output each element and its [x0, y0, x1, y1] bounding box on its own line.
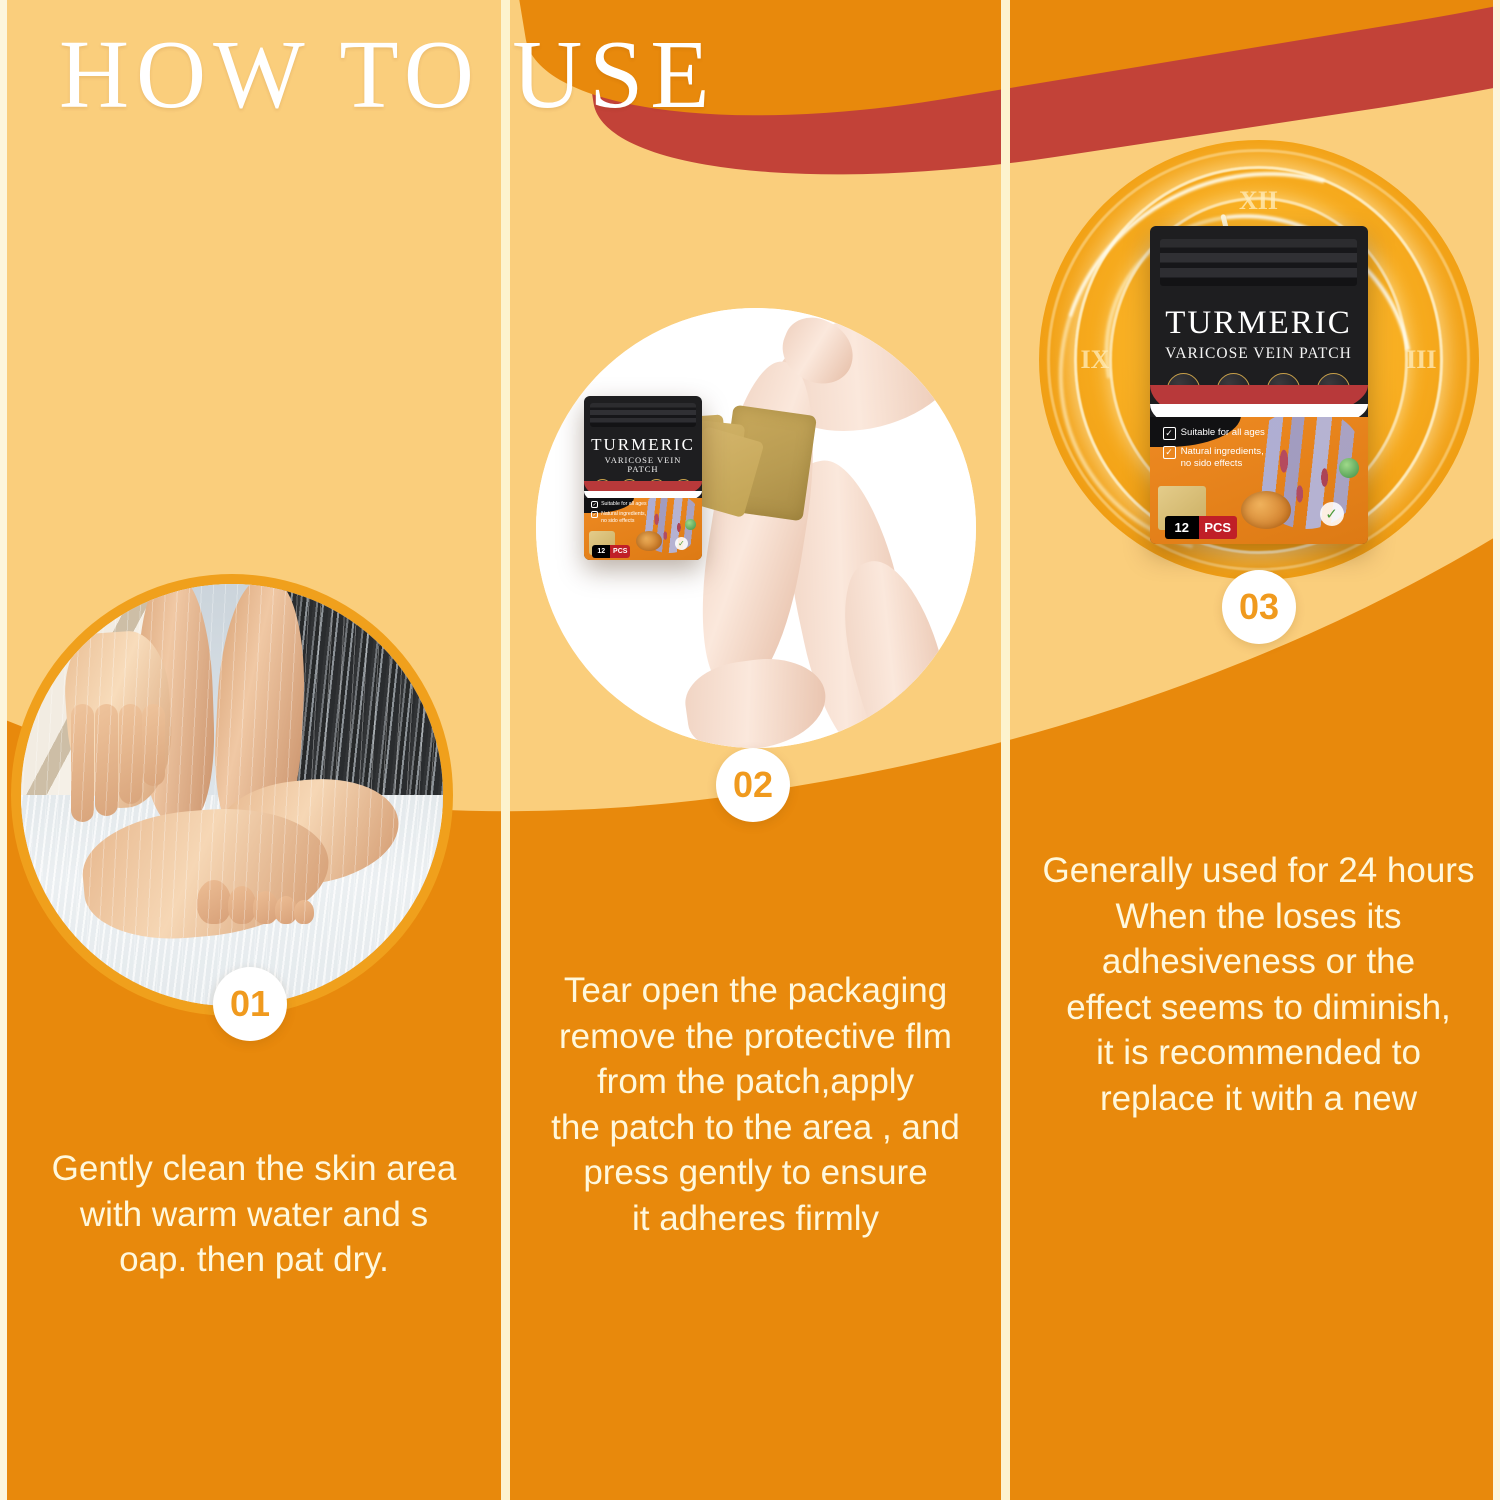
pouch-lower-panel: ✓ Suitable for all ages ✓ Natural ingred… — [584, 498, 702, 560]
feet-washing-in-shower-photo — [21, 584, 443, 1006]
pouch-lower-panel: ✓ Suitable for all ages ✓ Natural ingred… — [1150, 417, 1368, 544]
step-badge-02: 02 — [716, 748, 790, 822]
step-text-03: Generally used for 24 hours When the los… — [1010, 848, 1500, 1121]
pouch-count-number: 12 — [592, 545, 610, 558]
pouch-count-unit: PCS — [1199, 516, 1237, 539]
claim-row: ✓ Natural ingredients, no sido effects — [1163, 446, 1265, 470]
pouch-subtitle: VARICOSE VEIN PATCH — [1158, 346, 1359, 362]
product-pouch-small: TURMERIC VARICOSE VEIN PATCH FDA GMP ⚕ C… — [584, 396, 702, 560]
pouch-count-badge: 12 PCS — [1165, 516, 1237, 539]
step-badge-01: 01 — [213, 967, 287, 1041]
pouch-count-unit: PCS — [610, 545, 630, 558]
claim-text: Natural ingredients, no sido effects — [601, 511, 646, 524]
pouch-subtitle: VARICOSE VEIN PATCH — [589, 456, 698, 473]
claim-text: Suitable for all ages — [601, 501, 647, 508]
turmeric-root-graphic — [1241, 491, 1291, 529]
checkmark-icon: ✓ — [1163, 427, 1176, 440]
pouch-title: TURMERIC — [589, 436, 698, 453]
step-text-02: Tear open the packaging remove the prote… — [510, 968, 1001, 1241]
step-badge-03: 03 — [1222, 570, 1296, 644]
product-pouch-large: TURMERIC VARICOSE VEIN PATCH FDA GMP ⚕ C… — [1150, 226, 1368, 544]
pouch-claims: ✓ Suitable for all ages ✓ Natural ingred… — [1163, 427, 1265, 470]
leaf-icon: ✓ — [675, 537, 688, 550]
checkmark-icon: ✓ — [591, 501, 598, 508]
clock-numeral-xii: XII — [1239, 186, 1278, 216]
fingers — [71, 704, 175, 824]
pouch-zip-seal — [590, 403, 696, 428]
pouch-claims: ✓ Suitable for all ages ✓ Natural ingred… — [591, 501, 647, 524]
step-column-1: 01 Gently clean the skin area with warm … — [7, 0, 501, 1500]
checkmark-icon: ✓ — [1163, 446, 1176, 459]
checkmark-icon: ✓ — [591, 511, 598, 518]
claim-text: Suitable for all ages — [1181, 427, 1265, 439]
claim-text: Natural ingredients, no sido effects — [1181, 446, 1264, 470]
claim-row: ✓ Suitable for all ages — [1163, 427, 1265, 440]
column-divider-2 — [1001, 0, 1010, 1500]
clock-numeral-iii: III — [1406, 345, 1436, 375]
pouch-zip-seal — [1160, 239, 1356, 287]
green-bacteria-icon — [685, 519, 696, 530]
toes — [197, 876, 323, 924]
step-text-01: Gently clean the skin area with warm wat… — [7, 1146, 501, 1283]
step-column-3: XII III VI IX TURMERIC VARICOSE VEIN PAT… — [1010, 0, 1500, 1500]
claim-row: ✓ Natural ingredients, no sido effects — [591, 511, 647, 524]
claim-row: ✓ Suitable for all ages — [591, 501, 647, 508]
column-divider-1 — [501, 0, 510, 1500]
legs-scene: TURMERIC VARICOSE VEIN PATCH FDA GMP ⚕ C… — [536, 308, 976, 748]
water-spray — [283, 584, 443, 812]
pouch-title: TURMERIC — [1158, 307, 1359, 340]
how-to-use-poster: HOW TO USE — [0, 0, 1500, 1500]
pouch-count-number: 12 — [1165, 516, 1199, 539]
shower-scene — [21, 584, 443, 1006]
legs-with-patch-applied-photo: TURMERIC VARICOSE VEIN PATCH FDA GMP ⚕ C… — [536, 308, 976, 748]
pouch-count-badge: 12 PCS — [592, 545, 630, 558]
clock-numeral-ix: IX — [1081, 345, 1110, 375]
step-column-2: TURMERIC VARICOSE VEIN PATCH FDA GMP ⚕ C… — [510, 0, 1001, 1500]
green-bacteria-icon — [1339, 458, 1359, 478]
